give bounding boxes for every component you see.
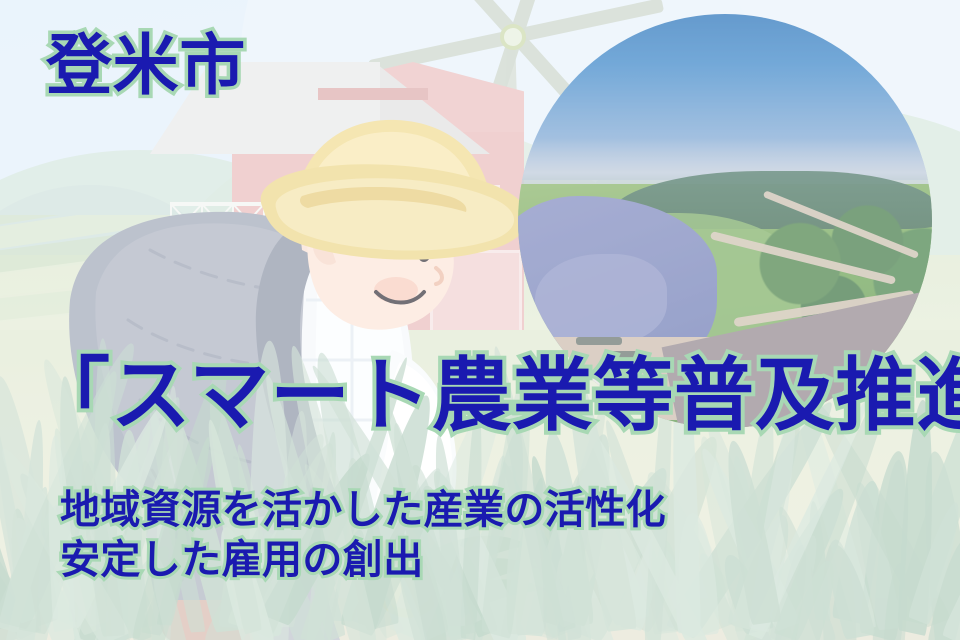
promotional-banner: 登米市 「スマート農業等普及推進」 地域資源を活かした産業の活性化 安定した雇用… (0, 0, 960, 640)
subtitle-line-2: 安定した雇用の創出 (60, 540, 424, 580)
text-layer: 登米市 「スマート農業等普及推進」 地域資源を活かした産業の活性化 安定した雇用… (0, 0, 960, 640)
subtitle-line-1: 地域資源を活かした産業の活性化 (60, 490, 666, 530)
city-name: 登米市 (46, 33, 246, 99)
page-title: 「スマート農業等普及推進」 (30, 356, 960, 436)
